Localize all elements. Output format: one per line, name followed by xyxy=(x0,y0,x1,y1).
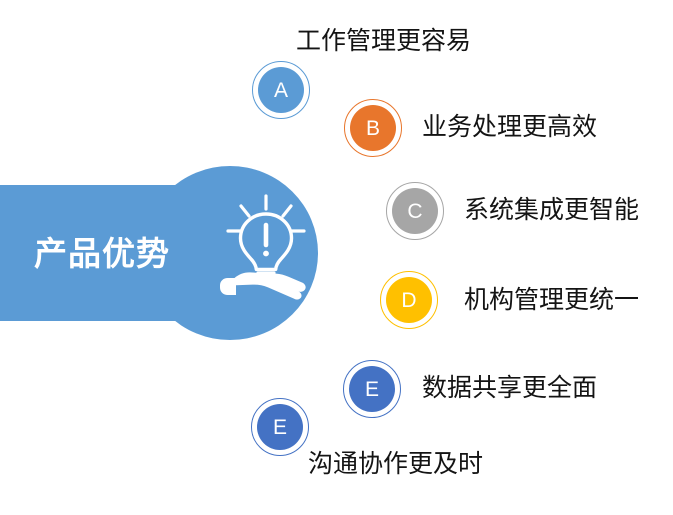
item-label-e: 数据共享更全面 xyxy=(422,373,597,403)
node-marker-e[interactable]: E xyxy=(343,360,401,418)
node-disc: E xyxy=(349,366,395,412)
node-disc: C xyxy=(392,188,438,234)
item-label-c: 系统集成更智能 xyxy=(464,195,639,225)
item-label-d: 机构管理更统一 xyxy=(464,285,639,315)
node-disc: B xyxy=(350,105,396,151)
page-title: 产品优势 xyxy=(34,232,224,276)
node-letter: A xyxy=(274,80,288,101)
node-marker-d[interactable]: D xyxy=(380,271,438,329)
item-label-a: 工作管理更容易 xyxy=(296,26,471,56)
node-letter: E xyxy=(365,379,379,400)
item-label-f: 沟通协作更及时 xyxy=(308,449,483,479)
node-letter: C xyxy=(407,201,422,222)
node-marker-b[interactable]: B xyxy=(344,99,402,157)
node-letter: B xyxy=(366,118,380,139)
node-letter: D xyxy=(401,290,416,311)
node-disc: E xyxy=(257,404,303,450)
node-letter: E xyxy=(273,417,287,438)
slide-canvas: 产品优势 A 工作管理更容易 xyxy=(0,0,673,515)
node-marker-f[interactable]: E xyxy=(251,398,309,456)
lightbulb-in-hand-icon xyxy=(218,192,314,300)
node-disc: D xyxy=(386,277,432,323)
node-marker-a[interactable]: A xyxy=(252,61,310,119)
node-marker-c[interactable]: C xyxy=(386,182,444,240)
node-disc: A xyxy=(258,67,304,113)
item-label-b: 业务处理更高效 xyxy=(422,112,597,142)
